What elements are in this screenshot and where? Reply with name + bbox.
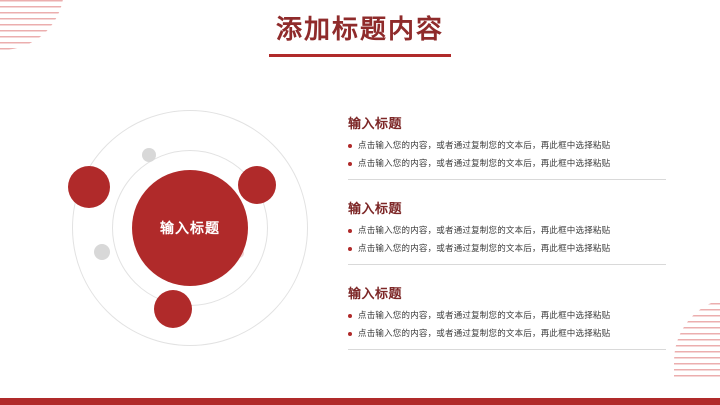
block-divider bbox=[348, 349, 666, 350]
bottom-accent-bar bbox=[0, 398, 720, 405]
slide-canvas: 添加标题内容 输入标题 输入标题 点击输入您的内容，或者通过复制您的文本后，再此… bbox=[0, 0, 720, 405]
block-heading: 输入标题 bbox=[348, 198, 668, 217]
title-underline bbox=[269, 54, 451, 57]
content-block-2: 输入标题 点击输入您的内容，或者通过复制您的文本后，再此框中选择粘贴 点击输入您… bbox=[348, 198, 668, 265]
content-block-3: 输入标题 点击输入您的内容，或者通过复制您的文本后，再此框中选择粘贴 点击输入您… bbox=[348, 283, 668, 350]
bullet-text: 点击输入您的内容，或者通过复制您的文本后，再此框中选择粘贴 bbox=[358, 139, 610, 152]
title-section: 添加标题内容 bbox=[0, 12, 720, 57]
bubble-right[interactable] bbox=[238, 166, 276, 204]
bullet-dot-icon bbox=[348, 162, 352, 166]
bullet-text: 点击输入您的内容，或者通过复制您的文本后，再此框中选择粘贴 bbox=[358, 242, 610, 255]
bullet-text: 点击输入您的内容，或者通过复制您的文本后，再此框中选择粘贴 bbox=[358, 157, 610, 170]
content-column: 输入标题 点击输入您的内容，或者通过复制您的文本后，再此框中选择粘贴 点击输入您… bbox=[348, 113, 668, 350]
bullet-text: 点击输入您的内容，或者通过复制您的文本后，再此框中选择粘贴 bbox=[358, 224, 610, 237]
circles-diagram: 输入标题 bbox=[56, 104, 338, 352]
block-heading: 输入标题 bbox=[348, 283, 668, 302]
list-item: 点击输入您的内容，或者通过复制您的文本后，再此框中选择粘贴 bbox=[348, 157, 668, 170]
list-item: 点击输入您的内容，或者通过复制您的文本后，再此框中选择粘贴 bbox=[348, 224, 668, 237]
bubble-center-label: 输入标题 bbox=[160, 218, 220, 238]
bubble-left[interactable] bbox=[68, 166, 110, 208]
dot-gray-top bbox=[142, 148, 156, 162]
bullet-dot-icon bbox=[348, 332, 352, 336]
decorative-stripes-bottom-right bbox=[674, 297, 720, 377]
bullet-dot-icon bbox=[348, 144, 352, 148]
bullet-dot-icon bbox=[348, 229, 352, 233]
bullet-dot-icon bbox=[348, 247, 352, 251]
dot-gray-left bbox=[94, 244, 110, 260]
block-heading: 输入标题 bbox=[348, 113, 668, 132]
block-divider bbox=[348, 179, 666, 180]
bullet-text: 点击输入您的内容，或者通过复制您的文本后，再此框中选择粘贴 bbox=[358, 309, 610, 322]
list-item: 点击输入您的内容，或者通过复制您的文本后，再此框中选择粘贴 bbox=[348, 139, 668, 152]
page-title: 添加标题内容 bbox=[0, 12, 720, 46]
bullet-dot-icon bbox=[348, 314, 352, 318]
bubble-center[interactable]: 输入标题 bbox=[132, 170, 248, 286]
block-divider bbox=[348, 264, 666, 265]
list-item: 点击输入您的内容，或者通过复制您的文本后，再此框中选择粘贴 bbox=[348, 327, 668, 340]
list-item: 点击输入您的内容，或者通过复制您的文本后，再此框中选择粘贴 bbox=[348, 309, 668, 322]
bubble-bottom[interactable] bbox=[154, 290, 192, 328]
list-item: 点击输入您的内容，或者通过复制您的文本后，再此框中选择粘贴 bbox=[348, 242, 668, 255]
bullet-text: 点击输入您的内容，或者通过复制您的文本后，再此框中选择粘贴 bbox=[358, 327, 610, 340]
content-block-1: 输入标题 点击输入您的内容，或者通过复制您的文本后，再此框中选择粘贴 点击输入您… bbox=[348, 113, 668, 180]
